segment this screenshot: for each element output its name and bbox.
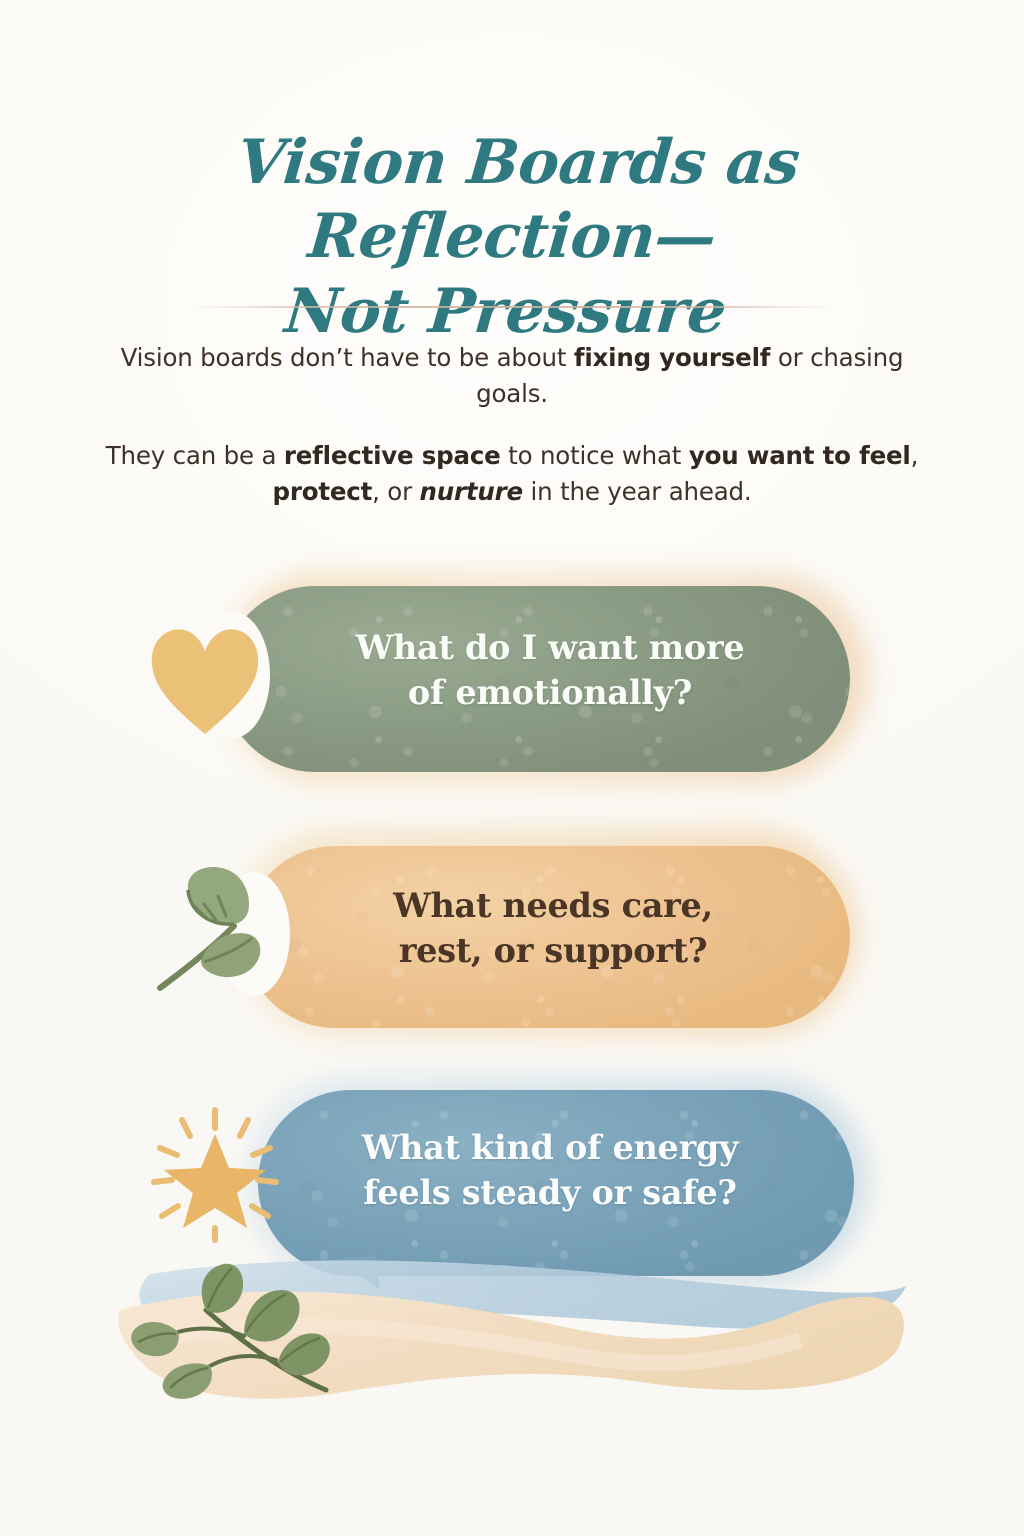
page-title: Vision Boards as Reflection—Not Pressure	[0, 126, 1024, 349]
intro-p2-part1: They can be a	[106, 441, 284, 470]
card-question-text: What do I want more of emotionally?	[300, 626, 800, 715]
title-line-2: Not Pressure	[282, 276, 729, 347]
page-header: Vision Boards as Reflection—Not Pressure	[0, 126, 1024, 349]
intro-p2-part2: to notice what	[501, 441, 689, 470]
intro-p1-part1: Vision boards don’t have to be about	[121, 343, 574, 372]
intro-p2-bold2: you want to feel	[689, 441, 911, 470]
intro-p2-part5: in the year ahead.	[523, 477, 752, 506]
intro-text-block: Vision boards don’t have to be about fix…	[0, 340, 1024, 510]
intro-p2-bolditalic1: nurture	[420, 477, 523, 506]
intro-p2-bold1: reflective space	[284, 441, 501, 470]
sparkle-star-icon	[140, 1100, 290, 1248]
title-line-1: Vision Boards as Reflection—	[235, 127, 802, 272]
intro-p2-bold3: protect	[272, 477, 372, 506]
header-divider	[192, 306, 832, 308]
intro-paragraph-1: Vision boards don’t have to be about fix…	[96, 340, 928, 412]
leaf-sprig-icon	[148, 862, 274, 996]
intro-p2-part4: , or	[372, 477, 419, 506]
botanical-sprig-icon	[128, 1262, 348, 1412]
intro-p1-bold1: fixing yourself	[574, 343, 770, 372]
heart-icon	[146, 622, 264, 738]
intro-p2-part3: ,	[911, 441, 919, 470]
infographic-page: Vision Boards as Reflection—Not Pressure…	[0, 0, 1024, 1536]
intro-paragraph-2: They can be a reflective space to notice…	[96, 438, 928, 510]
card-question-text: What needs care, rest, or support?	[318, 884, 788, 973]
card-question-text: What kind of energy feels steady or safe…	[300, 1126, 800, 1215]
